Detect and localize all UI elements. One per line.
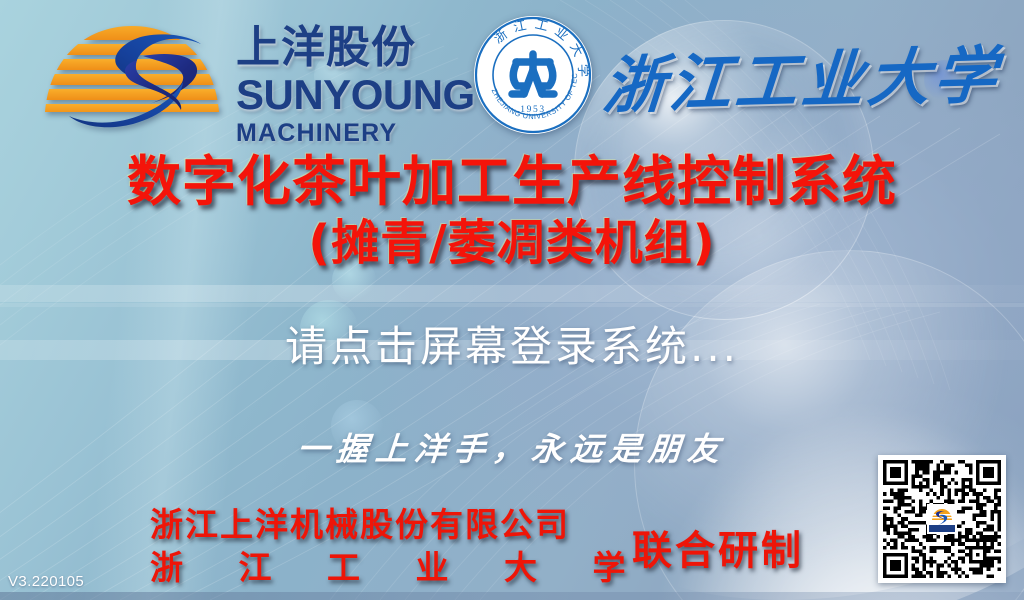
light-band <box>0 303 1024 307</box>
joint-development-label: 联合研制 <box>632 518 804 576</box>
svg-text:1953: 1953 <box>520 105 545 115</box>
qr-center-logo-icon <box>927 504 957 534</box>
page-title: 数字化茶叶加工生产线控制系统 <box>0 152 1024 212</box>
company-name-en-sub: MACHINERY <box>236 120 468 146</box>
company-name-cn: 上洋股份 <box>236 24 468 72</box>
company-slogan: 一握上洋手，永远是朋友 <box>0 424 1024 470</box>
light-band <box>0 285 1024 302</box>
bottom-strip <box>0 592 1024 600</box>
splash-screen[interactable]: 上洋股份 SUNYOUNG MACHINERY 浙江工业大学 ZHEJIANG … <box>0 0 1024 600</box>
zjut-seal-icon: 浙江工业大学 ZHEJIANG UNIVERSITY OF TECHNOLOGY… <box>472 14 594 136</box>
company-name-en: SUNYOUNG <box>236 74 468 116</box>
university-name-cn: 浙江工业大学 <box>600 24 1004 125</box>
sunyoung-wordmark: 上洋股份 SUNYOUNG MACHINERY <box>236 24 468 146</box>
title-block: 数字化茶叶加工生产线控制系统 (摊青/萎凋类机组) <box>0 152 1024 272</box>
footer-organizations: 浙江上洋机械股份有限公司 浙 江 工 业 大 学 <box>150 505 710 588</box>
login-prompt[interactable]: 请点击屏幕登录系统... <box>0 313 1024 374</box>
version-label: V3.220105 <box>8 573 84 590</box>
page-subtitle: (摊青/萎凋类机组) <box>0 214 1024 272</box>
wechat-qr-code[interactable] <box>878 455 1006 583</box>
org-name-company: 浙江上洋机械股份有限公司 <box>150 505 710 545</box>
org-name-university: 浙 江 工 业 大 学 <box>150 548 710 588</box>
header: 上洋股份 SUNYOUNG MACHINERY 浙江工业大学 ZHEJIANG … <box>0 0 1024 150</box>
sunyoung-logo-icon <box>33 16 231 136</box>
